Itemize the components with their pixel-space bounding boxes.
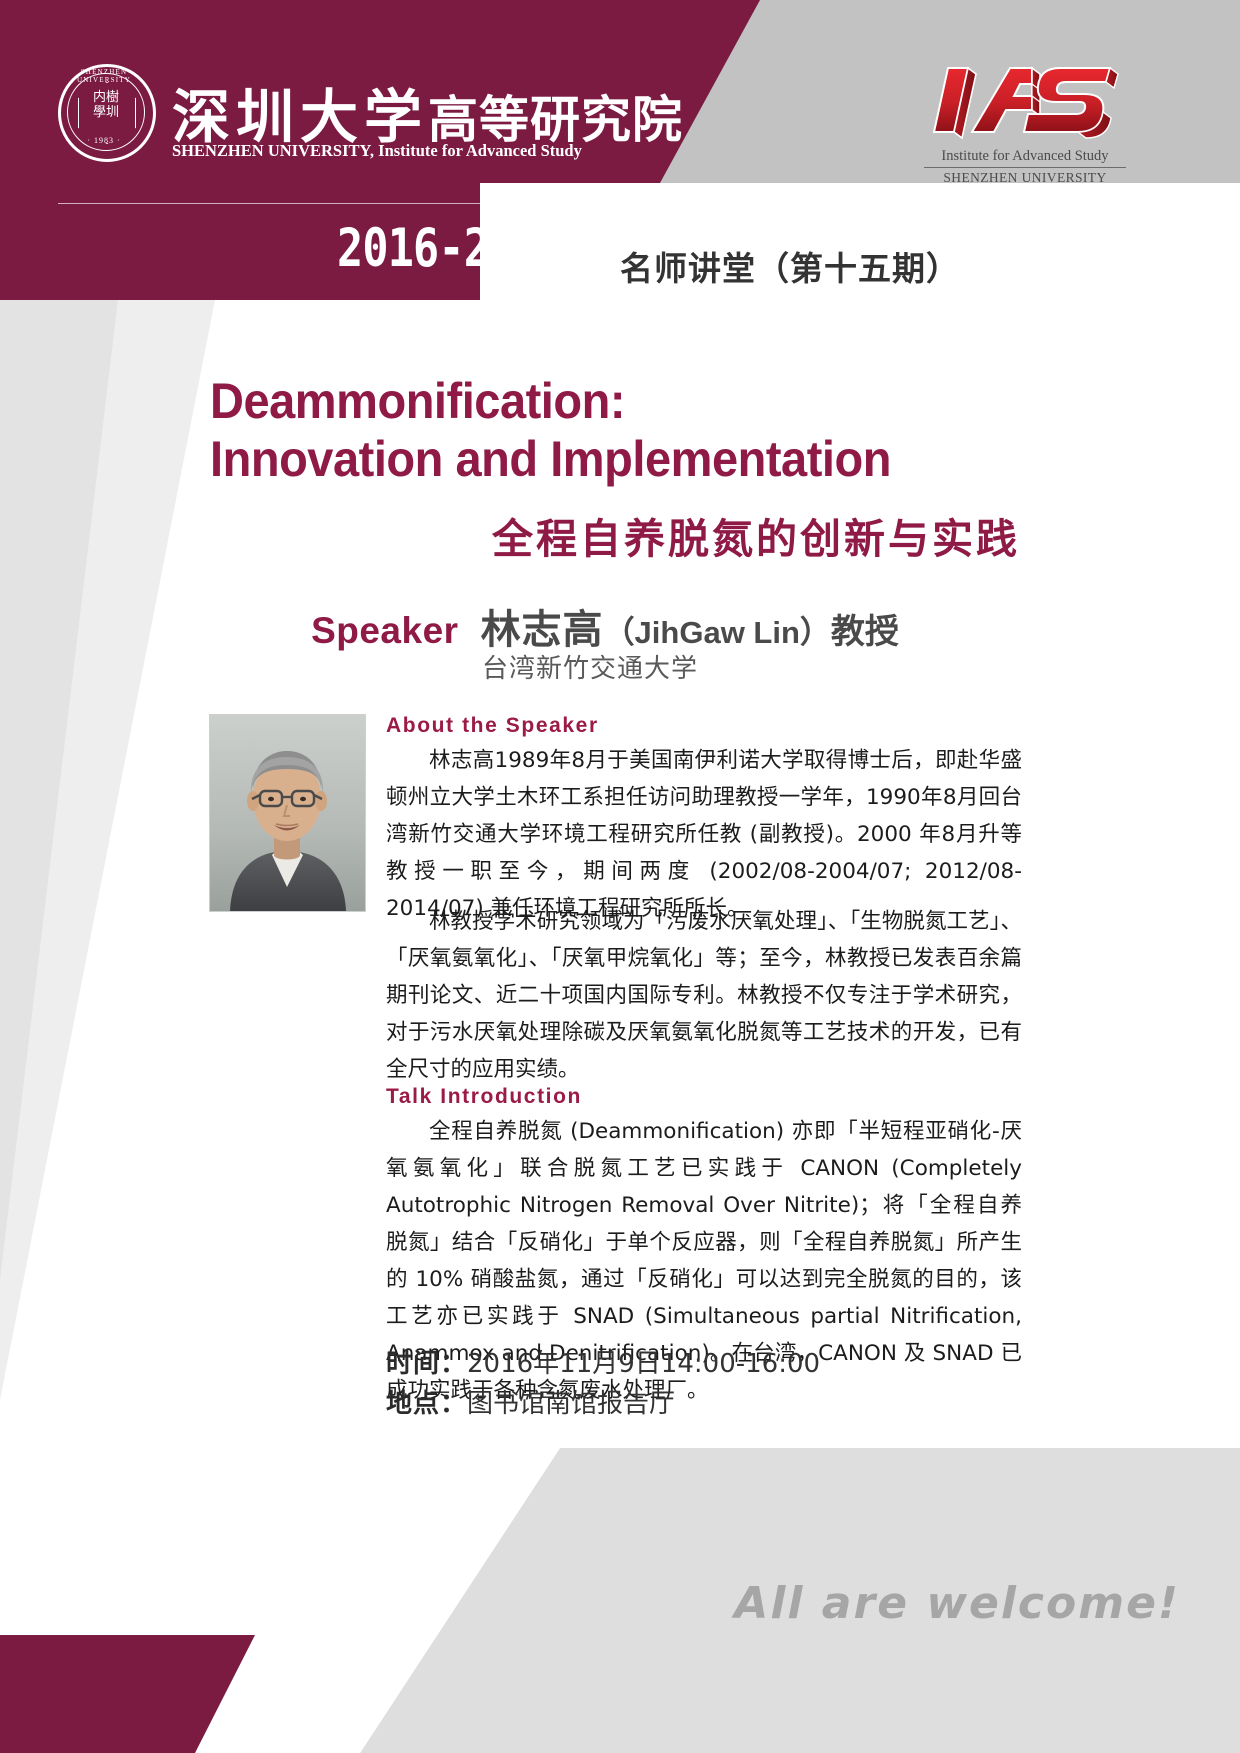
header-gray-lower-fill — [990, 183, 1240, 300]
poster-header: SHENZHEN UNIVERSITY 内樹學圳 · 1983 · 深圳大学高等… — [0, 0, 1240, 300]
speaker-name-en: （JihGaw Lin） — [604, 615, 831, 650]
about-speaker-heading: About the Speaker — [386, 714, 599, 738]
speaker-line: Speaker林志高（JihGaw Lin）教授 — [210, 597, 1000, 655]
welcome-text: All are welcome! — [0, 1578, 1180, 1629]
year-range: 2016-2017 — [337, 218, 565, 279]
speaker-keyword: Speaker — [311, 610, 459, 651]
talk-title-en-line1: Deammonification: — [210, 372, 1000, 430]
university-name-en: SHENZHEN UNIVERSITY, Institute for Advan… — [172, 141, 582, 161]
ias-logo: Institute for Advanced Study SHENZHEN UN… — [910, 62, 1140, 187]
event-time-row: 时间：2016年11月9日14:00-16:00 — [386, 1344, 820, 1384]
about-speaker-paragraph-2: 林教授学术研究领域为「污废水厌氧处理」、「生物脱氮工艺」、「厌氧氨氧化」、「厌氧… — [386, 903, 1022, 1088]
event-place-value: 图书馆南馆报告厅 — [467, 1389, 675, 1419]
talk-title-en-line2: Innovation and Implementation — [210, 430, 1000, 488]
shenzhen-university-seal-icon: SHENZHEN UNIVERSITY 内樹學圳 · 1983 · — [58, 64, 156, 162]
speaker-portrait — [209, 714, 366, 912]
speaker-affiliation: 台湾新竹交通大学 — [210, 648, 970, 685]
talk-title-cn: 全程自养脱氮的创新与实践 — [210, 505, 1020, 565]
ias-lettermark-icon — [928, 62, 1123, 140]
seminar-poster: SHENZHEN UNIVERSITY 内樹學圳 · 1983 · 深圳大学高等… — [0, 0, 1240, 1753]
talk-introduction-heading: Talk Introduction — [386, 1085, 582, 1109]
event-time-value: 2016年11月9日14:00-16:00 — [467, 1349, 820, 1379]
header-divider — [58, 203, 636, 204]
ias-logo-divider — [924, 167, 1126, 168]
ias-subtitle-line2: SHENZHEN UNIVERSITY — [910, 170, 1140, 186]
event-place-label: 地点： — [386, 1389, 467, 1419]
talk-title-en: Deammonification: Innovation and Impleme… — [210, 372, 1000, 488]
ias-subtitle-line1: Institute for Advanced Study — [910, 148, 1140, 165]
seal-inner-glyphs: 内樹學圳 — [82, 90, 130, 120]
event-place-row: 地点：图书馆南馆报告厅 — [386, 1384, 820, 1424]
event-details: 时间：2016年11月9日14:00-16:00 地点：图书馆南馆报告厅 — [386, 1344, 820, 1424]
about-speaker-paragraph-1: 林志高1989年8月于美国南伊利诺大学取得博士后，即赴华盛顿州立大学土木环工系担… — [386, 742, 1022, 927]
speaker-name-cn: 林志高 — [481, 607, 604, 653]
seal-bottom-text: · 1983 · — [58, 136, 150, 145]
speaker-academic-title: 教授 — [831, 612, 899, 652]
lecture-series-label: 名师讲堂（第十五期） — [620, 242, 960, 290]
seal-top-text: SHENZHEN UNIVERSITY — [58, 68, 150, 84]
event-time-label: 时间： — [386, 1349, 467, 1379]
